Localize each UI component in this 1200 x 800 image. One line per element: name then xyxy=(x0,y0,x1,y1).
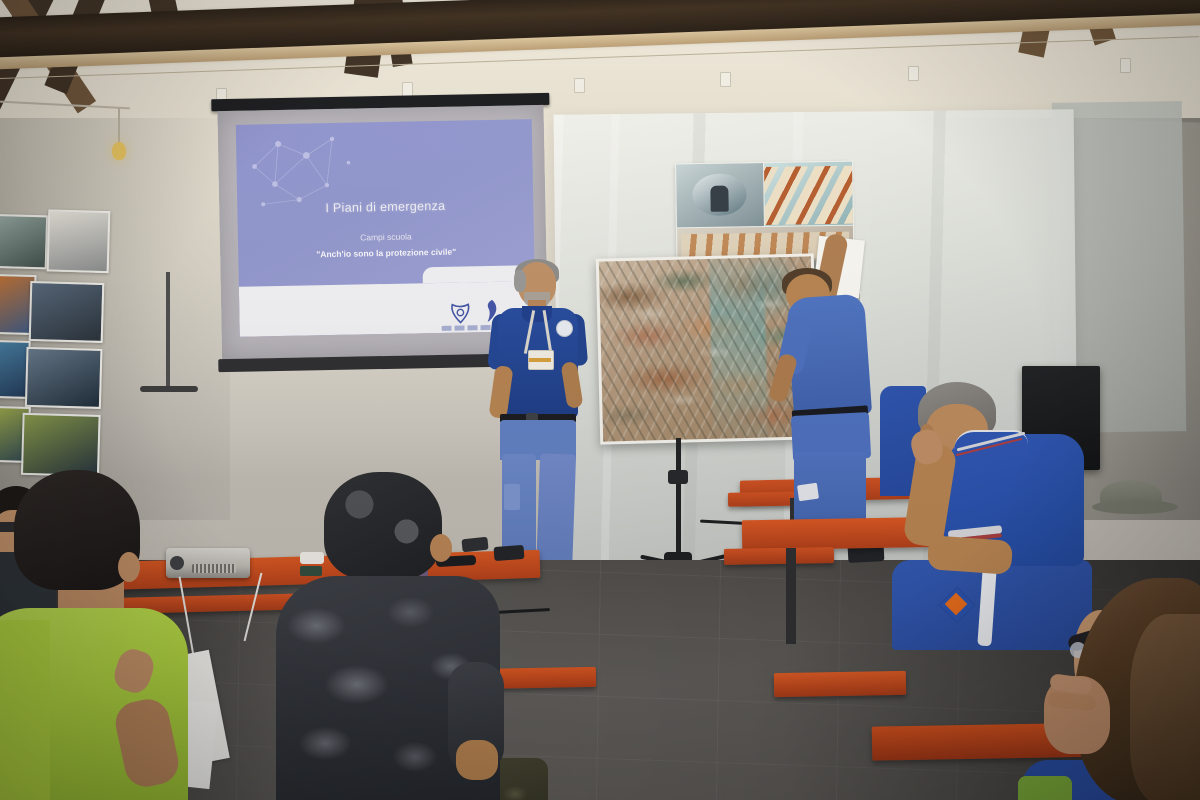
bulb-cord xyxy=(118,108,120,146)
sheet-clip-6 xyxy=(1120,58,1131,73)
hair-side xyxy=(514,270,526,292)
right-leg xyxy=(536,453,576,576)
ear xyxy=(430,534,452,562)
screen-support-foot xyxy=(140,386,198,392)
volunteer-at-map xyxy=(778,236,888,536)
id-badge-stripe xyxy=(529,358,551,362)
slide-tagline: "Anch'io sono la protezione civile" xyxy=(238,245,534,261)
sheet-clip-3 xyxy=(574,78,585,93)
protezione-civile-emblem xyxy=(449,300,471,324)
bench-right-a xyxy=(724,547,834,565)
hair xyxy=(324,472,442,580)
poster-panel-2 xyxy=(763,161,854,228)
bench-right-b xyxy=(774,671,906,697)
photograph-scene: I Piani di emergenza Campi scuola "Anch'… xyxy=(0,0,1200,800)
hand xyxy=(456,740,498,780)
ear xyxy=(118,552,140,582)
collage-photo-8 xyxy=(21,413,101,477)
student-green-shirt xyxy=(0,470,200,800)
collage-photo-4 xyxy=(29,281,105,343)
shoulder xyxy=(0,620,50,800)
sheet-clip-4 xyxy=(720,72,731,87)
collage-photo-6 xyxy=(25,347,103,409)
screen-support-pole xyxy=(166,272,170,392)
student-camo-jacket xyxy=(288,472,520,800)
map-stand-clamp xyxy=(668,470,688,484)
hair-strands xyxy=(1130,614,1200,800)
slide-subtitle: Campi scuola xyxy=(238,229,534,245)
attendee-long-hair-glasses xyxy=(1034,584,1200,800)
light-bulb-icon xyxy=(112,142,126,160)
map-stand-pole xyxy=(676,438,681,566)
collage-photo-1 xyxy=(0,214,48,270)
table-leg xyxy=(786,548,796,644)
green-item xyxy=(1018,776,1072,800)
poster-panel-1 xyxy=(675,162,766,229)
collage-photo-2 xyxy=(47,209,111,273)
sheet-clip-5 xyxy=(908,66,919,81)
resting-forearm xyxy=(927,535,1013,575)
shirt-emblem xyxy=(556,320,573,337)
reflective-strip xyxy=(797,483,819,502)
collar xyxy=(522,306,552,322)
